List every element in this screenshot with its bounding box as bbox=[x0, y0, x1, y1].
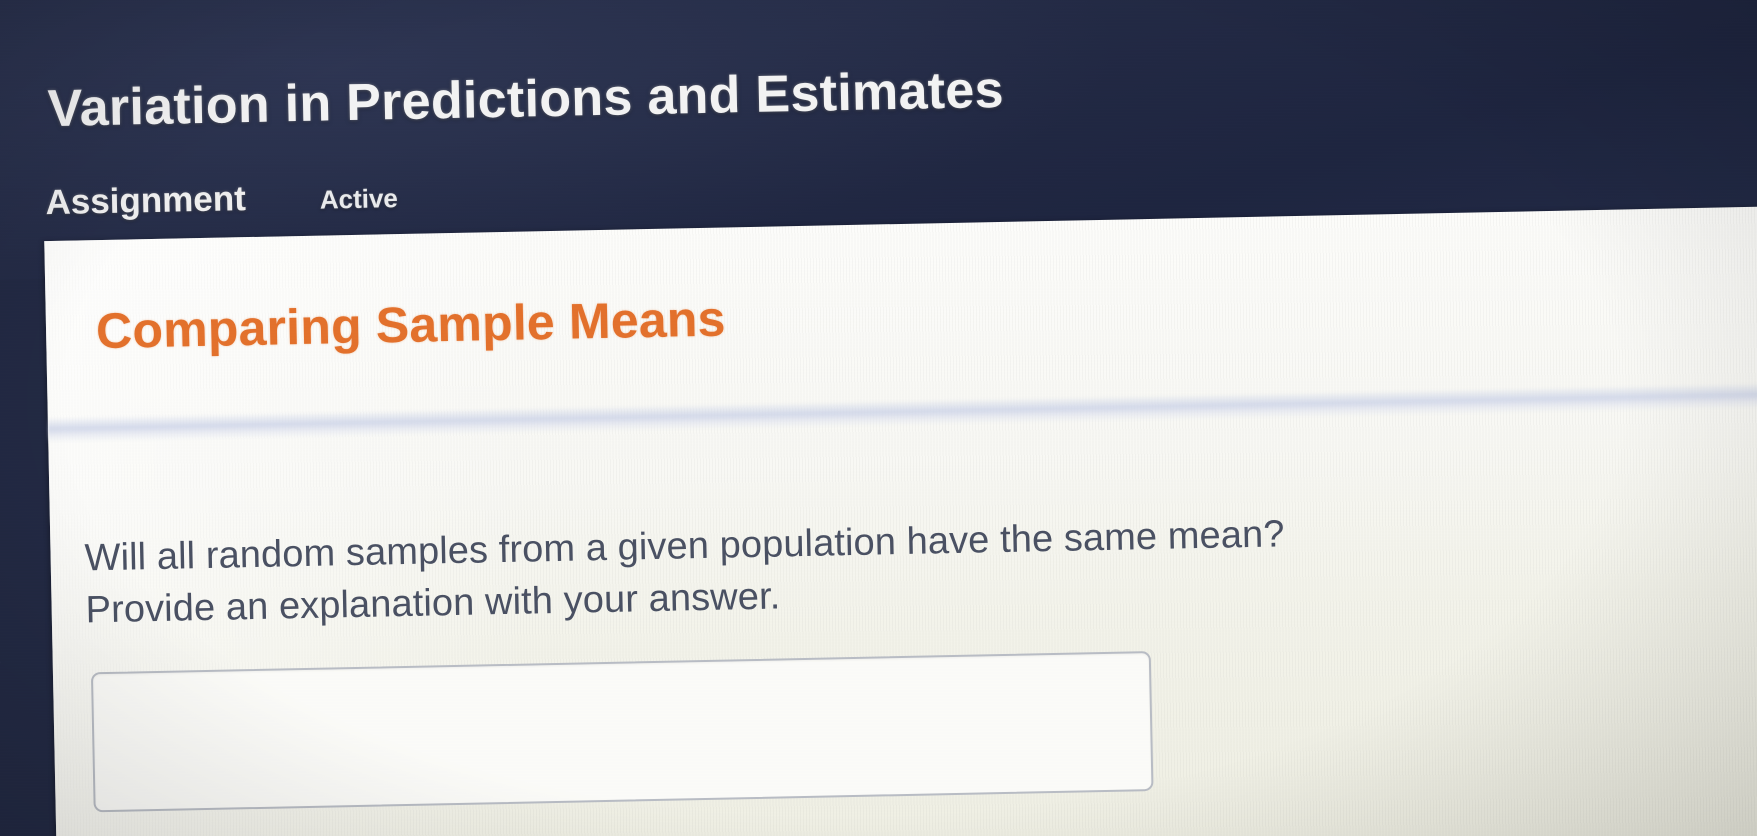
content-card: Comparing Sample Means Will all random s… bbox=[44, 205, 1757, 836]
header-meta-row: Assignment Active bbox=[45, 176, 398, 223]
assignment-type-label: Assignment bbox=[45, 179, 246, 223]
status-badge: Active bbox=[319, 183, 398, 216]
question-text: Will all random samples from a given pop… bbox=[84, 508, 1326, 637]
section-divider bbox=[48, 381, 1757, 443]
screen-photo: Variation in Predictions and Estimates A… bbox=[0, 0, 1757, 836]
page-title: Variation in Predictions and Estimates bbox=[47, 60, 1004, 139]
screen-skew-wrapper: Variation in Predictions and Estimates A… bbox=[0, 0, 1757, 836]
answer-input[interactable] bbox=[91, 651, 1154, 812]
left-rail bbox=[0, 230, 32, 831]
lesson-title: Comparing Sample Means bbox=[95, 290, 726, 361]
